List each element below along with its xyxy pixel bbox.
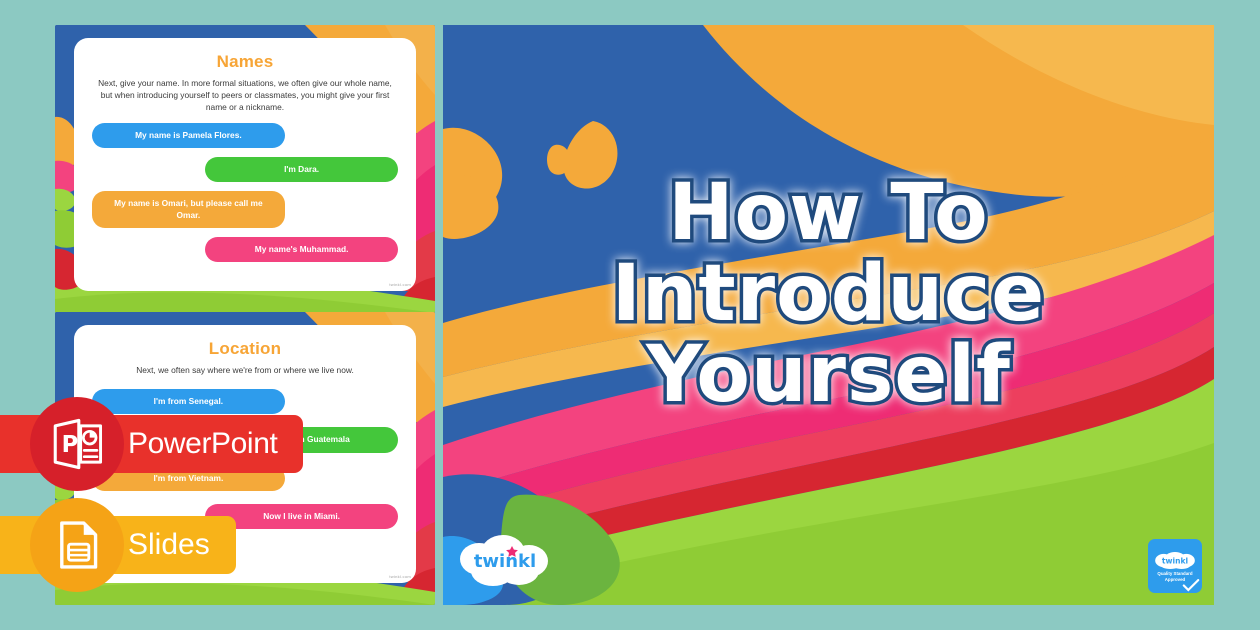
speech-bubble-list: My name is Pamela Flores. I'm Dara. My n… <box>92 123 398 263</box>
speech-bubble: My name's Muhammad. <box>205 237 398 262</box>
svg-text:twinkl: twinkl <box>1162 556 1188 565</box>
main-poster-preview[interactable]: How To Introduce Yourself twinkl <box>443 25 1214 605</box>
slide-thumbnail-names[interactable]: Names Next, give your name. In more form… <box>55 25 435 313</box>
slide-title: Location <box>92 339 398 359</box>
google-slides-format-badge[interactable]: Slides <box>0 516 236 574</box>
page-title: How To Introduce Yourself <box>443 173 1214 416</box>
speech-bubble: I'm Dara. <box>205 157 398 182</box>
title-line-2: Introduce <box>443 254 1214 335</box>
twinkl-quality-standard-badge: twinkl Quality Standard Approved <box>1148 539 1202 593</box>
twinkl-watermark: twinkl.com <box>389 282 411 287</box>
twinkl-watermark: twinkl.com <box>389 574 411 579</box>
slide-card: Names Next, give your name. In more form… <box>74 38 416 291</box>
title-line-3: Yourself <box>443 335 1214 416</box>
speech-bubble: I'm from Senegal. <box>92 389 285 414</box>
slide-title: Names <box>92 52 398 72</box>
title-line-1: How To <box>443 173 1214 254</box>
speech-bubble: My name is Omari, but please call me Oma… <box>92 191 285 228</box>
svg-text:P: P <box>62 432 79 458</box>
speech-bubble: My name is Pamela Flores. <box>92 123 285 148</box>
slide-intro-text: Next, we often say where we're from or w… <box>98 365 392 377</box>
badge-cloud-logo: twinkl <box>1153 552 1197 569</box>
powerpoint-icon: P <box>48 415 106 473</box>
slides-icon-circle <box>30 498 124 592</box>
powerpoint-format-badge[interactable]: PowerPoint P <box>0 415 303 473</box>
checkmark-icon <box>1182 579 1200 592</box>
powerpoint-label: PowerPoint <box>128 429 277 459</box>
svg-text:twinkl: twinkl <box>474 551 536 572</box>
slide-intro-text: Next, give your name. In more formal sit… <box>98 78 392 114</box>
google-slides-doc-icon <box>50 518 104 572</box>
powerpoint-icon-circle: P <box>30 397 124 491</box>
twinkl-cloud-logo: twinkl <box>457 535 553 591</box>
slides-label: Slides <box>128 530 210 560</box>
